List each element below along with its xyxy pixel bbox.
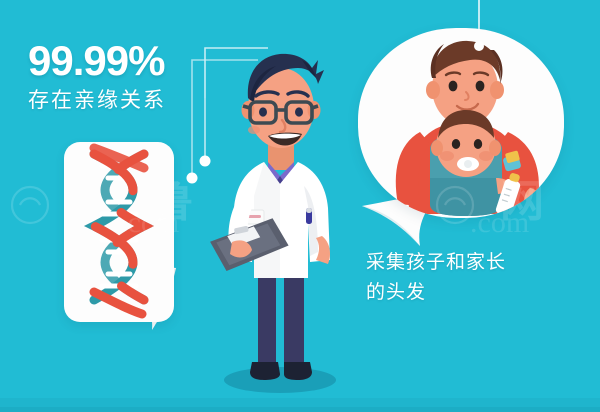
caption-line-2: 的头发: [366, 278, 576, 308]
infographic-canvas: 99.99% 存在亲缘关系: [0, 0, 600, 412]
dna-double-helix-icon: [64, 142, 174, 322]
headline-subtitle: 存在亲缘关系: [28, 88, 238, 114]
percent-value: 99.99%: [28, 38, 238, 84]
background-bottom-edge: [0, 407, 600, 412]
caption-line-1: 采集孩子和家长: [366, 248, 576, 278]
headline-block: 99.99% 存在亲缘关系: [28, 38, 238, 114]
doctor-character: [210, 46, 360, 396]
family-illustration-clip: [358, 28, 564, 218]
dna-illustration-clip: [64, 142, 174, 322]
father-carrying-baby-icon: [358, 28, 564, 218]
caption-block: 采集孩子和家长 的头发: [366, 248, 576, 308]
